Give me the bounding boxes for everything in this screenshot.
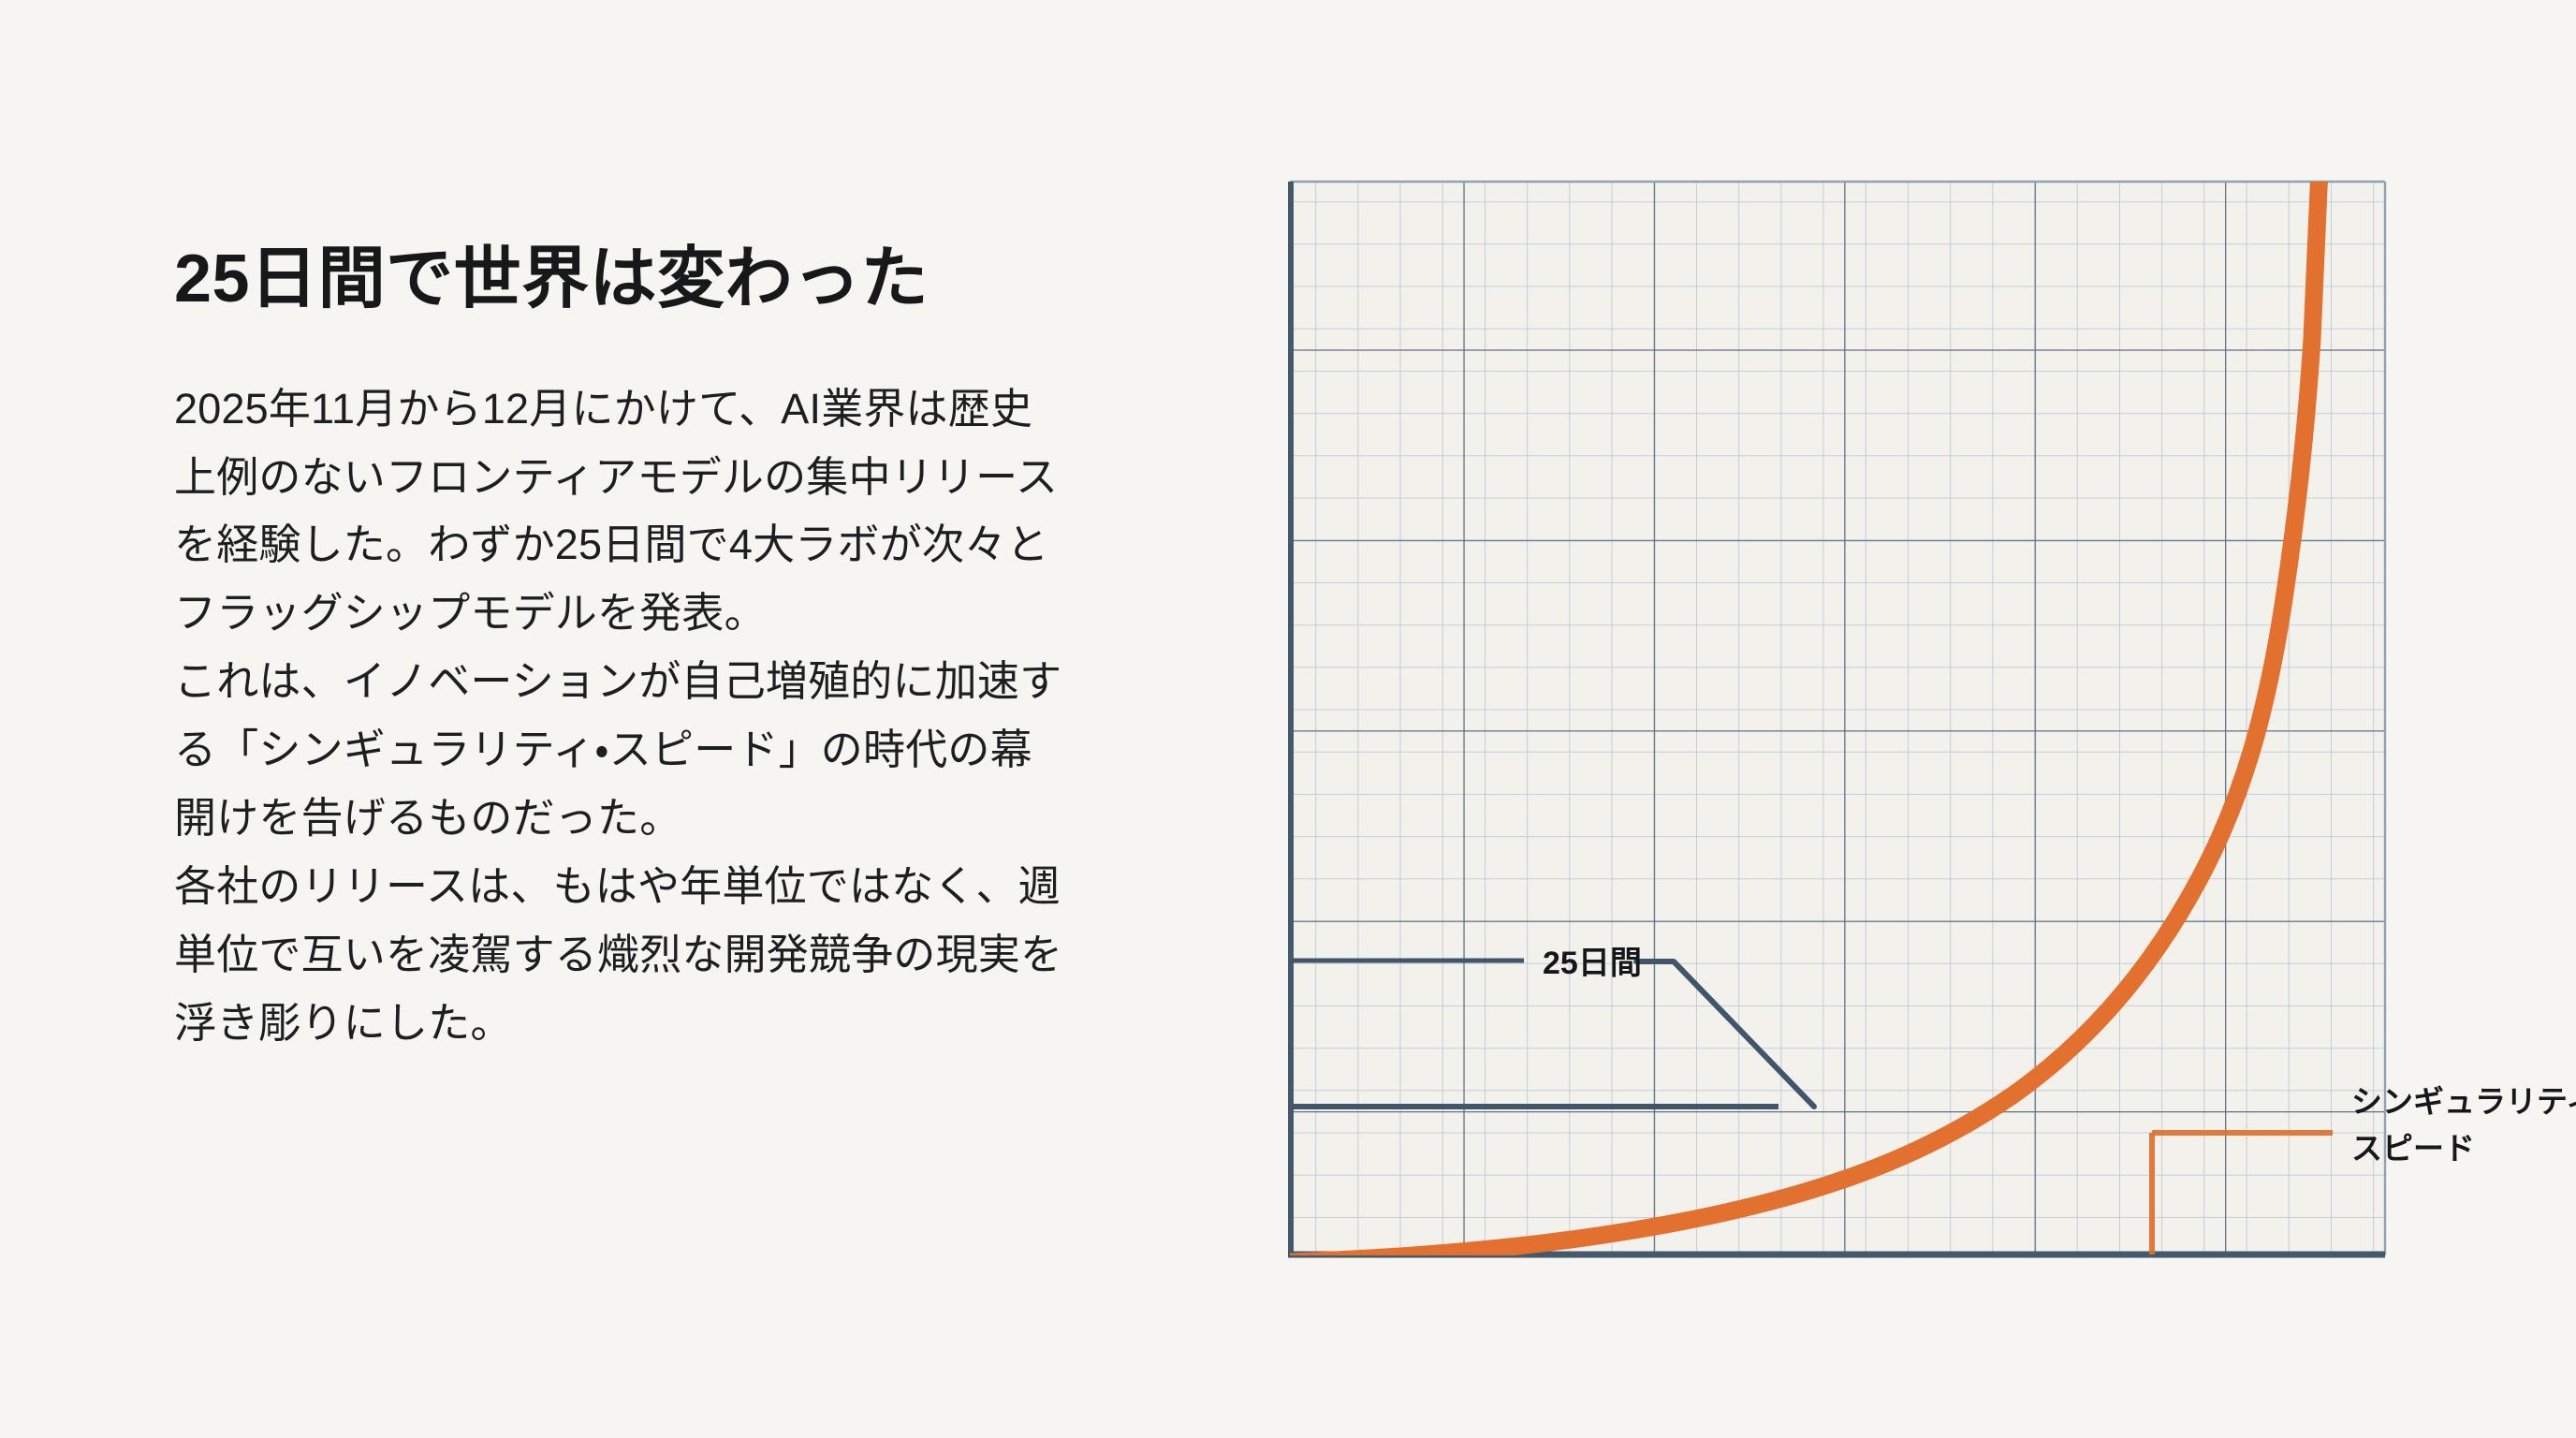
- body-copy: 2025年11月から12月にかけて、AI業界は歴史上例のないフロンティアモデルの…: [174, 375, 1073, 1058]
- annotation-singularity-label-line1: シンギュラリティ・: [2351, 1084, 2576, 1119]
- slide-canvas: 25日間で世界は変わった 2025年11月から12月にかけて、AI業界は歴史上例…: [0, 0, 2576, 1438]
- page-title: 25日間で世界は変わった: [174, 242, 1073, 317]
- exponential-growth-chart: 25日間 シンギュラリティ・ スピード: [1273, 159, 2471, 1311]
- body-paragraph-2: これは、イノベーションが自己増殖的に加速する「シンギュラリティ・スピード」の時代…: [174, 648, 1073, 853]
- annotation-singularity-label-line2: スピード: [2351, 1131, 2475, 1166]
- annotation-25-days-label: 25日間: [1543, 946, 1642, 981]
- major-gridlines: [1290, 182, 2385, 1255]
- body-paragraph-3: 各社のリリースは、もはや年単位ではなく、週単位で互いを凌駕する熾烈な開発競争の現…: [174, 853, 1073, 1058]
- body-paragraph-1: 2025年11月から12月にかけて、AI業界は歴史上例のないフロンティアモデルの…: [174, 375, 1073, 649]
- chart-svg: 25日間 シンギュラリティ・ スピード: [1273, 159, 2471, 1311]
- text-column: 25日間で世界は変わった 2025年11月から12月にかけて、AI業界は歴史上例…: [174, 242, 1073, 1058]
